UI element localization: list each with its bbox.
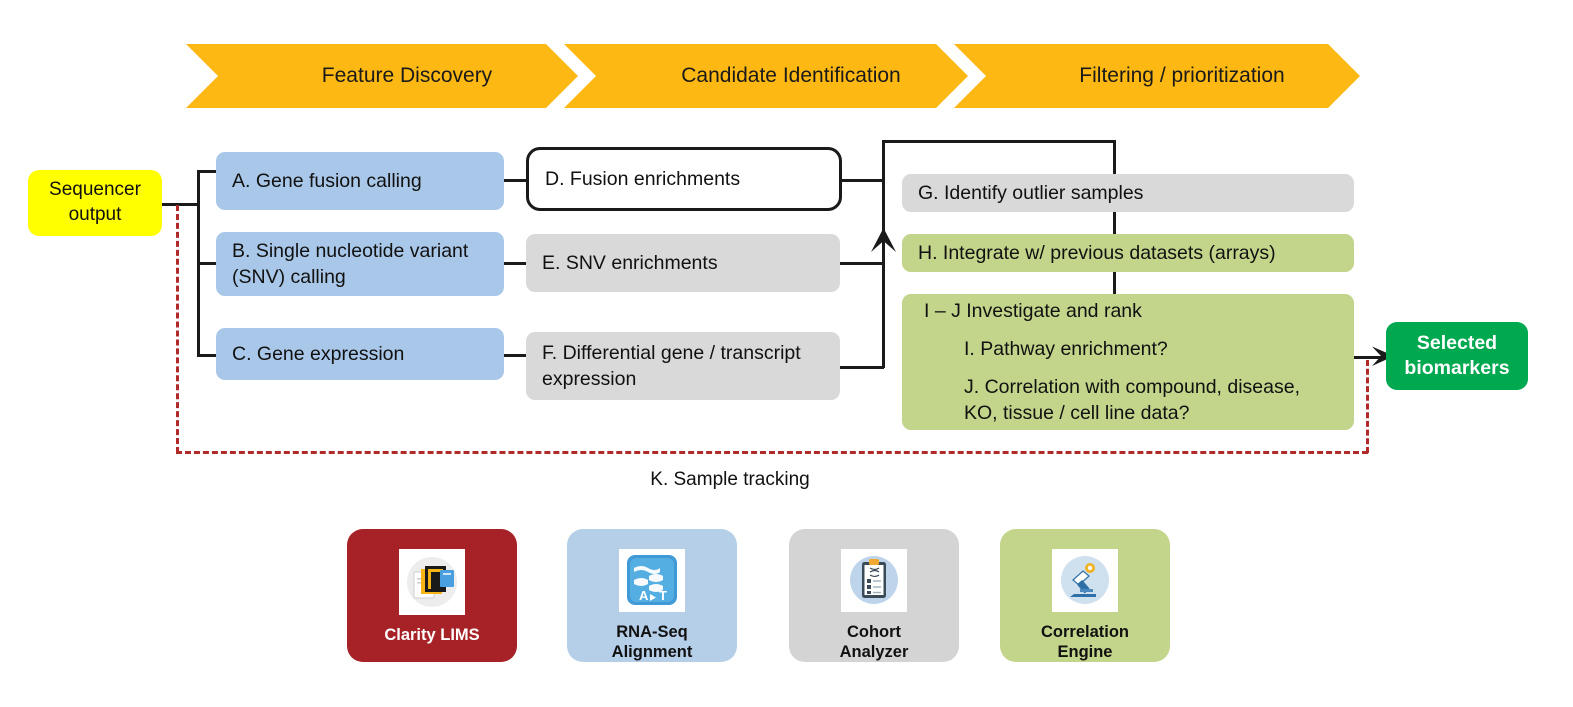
clipboard-icon	[841, 549, 907, 612]
sample-tracking-label: K. Sample tracking	[500, 469, 960, 491]
product-name-correlation-line1: Correlation	[1041, 622, 1129, 642]
stage-label-feature-discovery: Feature Discovery	[218, 44, 578, 108]
step-d-fusion-enrichments[interactable]: D. Fusion enrichments	[526, 147, 842, 211]
product-name-cohort-line1: Cohort	[840, 622, 909, 642]
product-tile-cohort-analyzer[interactable]: Cohort Analyzer	[789, 529, 959, 662]
connector-b-to-e	[504, 262, 528, 265]
sample-tracking-line-left	[176, 205, 179, 453]
svg-text:T: T	[659, 588, 667, 603]
sequencer-output-box[interactable]: Sequencer output	[28, 170, 162, 236]
step-c-gene-expression[interactable]: C. Gene expression	[216, 328, 504, 380]
step-f-label-line2: expression	[542, 366, 801, 392]
step-j-label-line1: J. Correlation with compound, disease,	[964, 374, 1338, 400]
microscope-icon	[1052, 549, 1118, 612]
connector-e-to-merge	[840, 262, 884, 265]
product-name-correlation-line2: Engine	[1041, 642, 1129, 662]
product-tile-correlation-engine[interactable]: Correlation Engine	[1000, 529, 1170, 662]
step-b-label-line1: B. Single nucleotide variant	[232, 238, 468, 264]
connector-f-to-merge	[840, 366, 884, 369]
step-a-label: A. Gene fusion calling	[216, 168, 438, 194]
step-g-label: G. Identify outlier samples	[902, 180, 1159, 206]
step-ij-investigate-and-rank[interactable]: I – J Investigate and rank I. Pathway en…	[902, 294, 1354, 430]
svg-text:A: A	[639, 588, 649, 603]
selected-biomarkers-line1: Selected	[1404, 331, 1509, 356]
merge-arrowhead-icon	[869, 228, 899, 254]
step-e-snv-enrichments[interactable]: E. SNV enrichments	[526, 234, 840, 292]
step-b-label-line2: (SNV) calling	[232, 264, 468, 290]
step-d-label: D. Fusion enrichments	[529, 166, 756, 192]
sequencer-output-line2: output	[49, 203, 141, 228]
step-i-label: I. Pathway enrichment?	[902, 336, 1354, 362]
selected-biomarkers-box[interactable]: Selected biomarkers	[1386, 322, 1528, 390]
stage-label-candidate-identification: Candidate Identification	[596, 44, 968, 108]
product-name-cohort-line2: Analyzer	[840, 642, 909, 662]
stage-label-filtering-prioritization: Filtering / prioritization	[986, 44, 1360, 108]
product-tile-clarity-lims[interactable]: Clarity LIMS	[347, 529, 517, 662]
sequencer-output-line1: Sequencer	[49, 178, 141, 203]
documents-icon	[399, 549, 465, 615]
workflow-diagram: Feature Discovery Candidate Identificati…	[0, 0, 1573, 707]
step-b-snv-calling[interactable]: B. Single nucleotide variant (SNV) calli…	[216, 232, 504, 296]
connector-d-to-merge	[840, 179, 884, 182]
product-name-rna-seq-line1: RNA-Seq	[612, 622, 693, 642]
step-a-gene-fusion-calling[interactable]: A. Gene fusion calling	[216, 152, 504, 210]
product-tile-rna-seq-alignment[interactable]: A T RNA-Seq Alignment	[567, 529, 737, 662]
connector-g-to-h	[1113, 212, 1116, 234]
connector-c-to-f	[504, 354, 528, 357]
step-j-label-line2: KO, tissue / cell line data?	[964, 400, 1338, 426]
step-h-integrate-previous-datasets[interactable]: H. Integrate w/ previous datasets (array…	[902, 234, 1354, 272]
connector-sequencer-to-trunk	[160, 203, 200, 206]
selected-biomarkers-line2: biomarkers	[1404, 356, 1509, 381]
sample-tracking-line-right	[1366, 360, 1369, 453]
connector-merge-vertical	[882, 140, 885, 368]
sample-tracking-line-bottom	[176, 451, 1368, 454]
step-c-label: C. Gene expression	[216, 341, 420, 367]
connector-a-to-d	[504, 179, 528, 182]
product-name-rna-seq-line2: Alignment	[612, 642, 693, 662]
step-h-label: H. Integrate w/ previous datasets (array…	[902, 240, 1292, 266]
step-f-differential-expression[interactable]: F. Differential gene / transcript expres…	[526, 332, 840, 400]
step-ij-header: I – J Investigate and rank	[902, 298, 1354, 324]
step-f-label-line1: F. Differential gene / transcript	[542, 340, 801, 366]
sequence-reads-icon: A T	[619, 549, 685, 612]
step-g-identify-outlier-samples[interactable]: G. Identify outlier samples	[902, 174, 1354, 212]
connector-top-rail	[882, 140, 1116, 143]
step-e-label: E. SNV enrichments	[526, 250, 734, 276]
connector-h-to-ij	[1113, 272, 1116, 294]
product-name-clarity-lims: Clarity LIMS	[384, 625, 479, 645]
connector-right-column-vertical-1	[1113, 140, 1116, 174]
